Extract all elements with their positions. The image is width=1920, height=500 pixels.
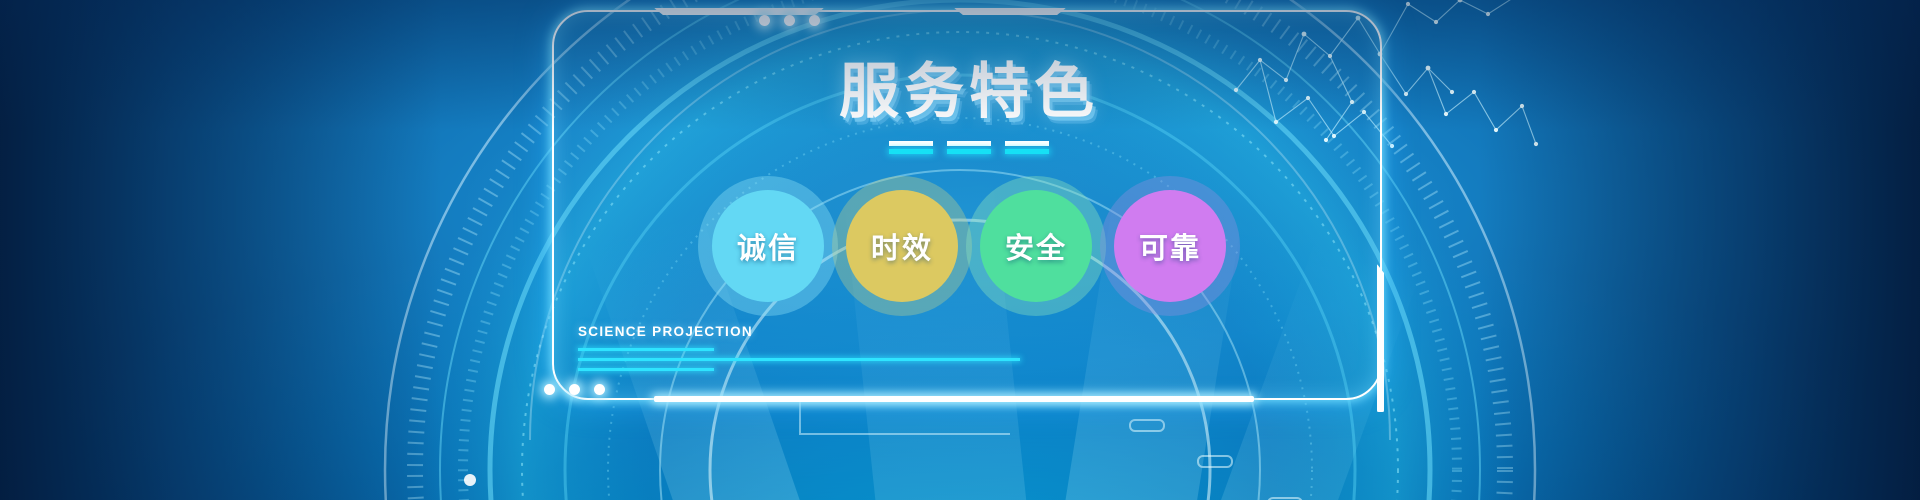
underline-dash xyxy=(947,141,991,154)
title-underline xyxy=(554,141,1384,154)
feature-circle[interactable]: 可靠 xyxy=(1114,190,1226,302)
feature-circle[interactable]: 时效 xyxy=(846,190,958,302)
frame-highlight-segment xyxy=(654,396,1254,402)
dot-icon xyxy=(784,15,795,26)
dot-icon xyxy=(594,384,605,395)
frame-highlight-segment xyxy=(654,8,824,15)
dot-icon xyxy=(759,15,770,26)
feature-circle[interactable]: 安全 xyxy=(980,190,1092,302)
underline-dash xyxy=(1005,141,1049,154)
dot-icon xyxy=(809,15,820,26)
feature-circle-label: 安全 xyxy=(1005,225,1067,267)
dot-icon xyxy=(544,384,555,395)
underline-dash xyxy=(889,141,933,154)
dot-icon xyxy=(569,384,580,395)
accent-bar xyxy=(578,368,714,371)
content-frame: 服务特色 诚信时效安全可靠 SCIENCE PROJECTION xyxy=(552,10,1382,400)
page-title-text: 服务特色 xyxy=(839,62,1099,122)
page-title: 服务特色 xyxy=(554,62,1384,122)
accent-bar xyxy=(578,358,1020,361)
feature-circle-label: 时效 xyxy=(871,225,933,267)
feature-circle-label: 诚信 xyxy=(737,225,799,267)
feature-circle[interactable]: 诚信 xyxy=(712,190,824,302)
banner-stage: 服务特色 诚信时效安全可靠 SCIENCE PROJECTION xyxy=(0,0,1920,500)
subtitle-text: SCIENCE PROJECTION xyxy=(578,324,1078,339)
frame-highlight-segment xyxy=(954,8,1066,15)
feature-circle-list: 诚信时效安全可靠 xyxy=(554,190,1384,302)
frame-top-dots xyxy=(759,15,820,26)
feature-circle-label: 可靠 xyxy=(1139,225,1201,267)
accent-bar xyxy=(578,348,714,351)
frame-bottom-dots xyxy=(544,384,605,395)
subtitle-block: SCIENCE PROJECTION xyxy=(578,324,1078,371)
